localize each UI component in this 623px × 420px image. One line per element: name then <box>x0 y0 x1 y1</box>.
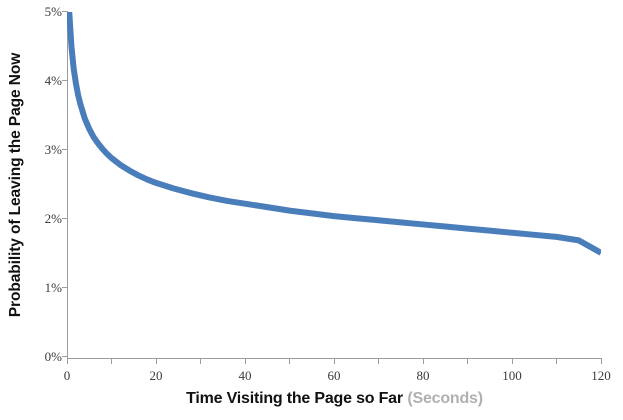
y-tick-label: 4% <box>22 74 62 87</box>
chart-container: Probability of Leaving the Page Now 5% 4… <box>0 0 623 420</box>
x-tick-label: 80 <box>393 368 453 384</box>
x-tick-mark <box>556 359 557 364</box>
x-tick-label: 60 <box>304 368 364 384</box>
x-tick-label: 40 <box>215 368 275 384</box>
plot-area <box>67 12 601 358</box>
x-tick-mark <box>67 359 68 364</box>
y-tick-label: 1% <box>22 281 62 294</box>
y-axis-tick-labels: 5% 4% 3% 2% 1% 0% <box>18 0 62 420</box>
x-tick-mark <box>334 359 335 364</box>
x-tick-mark <box>601 359 602 364</box>
x-tick-label: 0 <box>37 368 97 384</box>
x-tick-label: 120 <box>571 368 623 384</box>
y-tick-label: 5% <box>22 5 62 18</box>
x-axis-title-unit: (Seconds) <box>407 390 483 407</box>
y-tick-label: 3% <box>22 143 62 156</box>
y-tick-label: 0% <box>22 350 62 363</box>
x-axis-title-text: Time Visiting the Page so Far <box>186 390 403 407</box>
x-tick-mark <box>423 359 424 364</box>
data-line-svg <box>67 12 601 358</box>
x-tick-mark <box>289 359 290 364</box>
data-series-line <box>69 12 601 253</box>
x-axis-title: Time Visiting the Page so Far (Seconds) <box>67 390 602 408</box>
x-tick-mark <box>156 359 157 364</box>
x-tick-label: 100 <box>482 368 542 384</box>
x-tick-mark <box>200 359 201 364</box>
x-tick-mark <box>245 359 246 364</box>
x-tick-mark <box>111 359 112 364</box>
x-tick-mark <box>467 359 468 364</box>
x-tick-mark <box>378 359 379 364</box>
x-tick-mark <box>512 359 513 364</box>
y-tick-label: 2% <box>22 212 62 225</box>
x-tick-label: 20 <box>126 368 186 384</box>
